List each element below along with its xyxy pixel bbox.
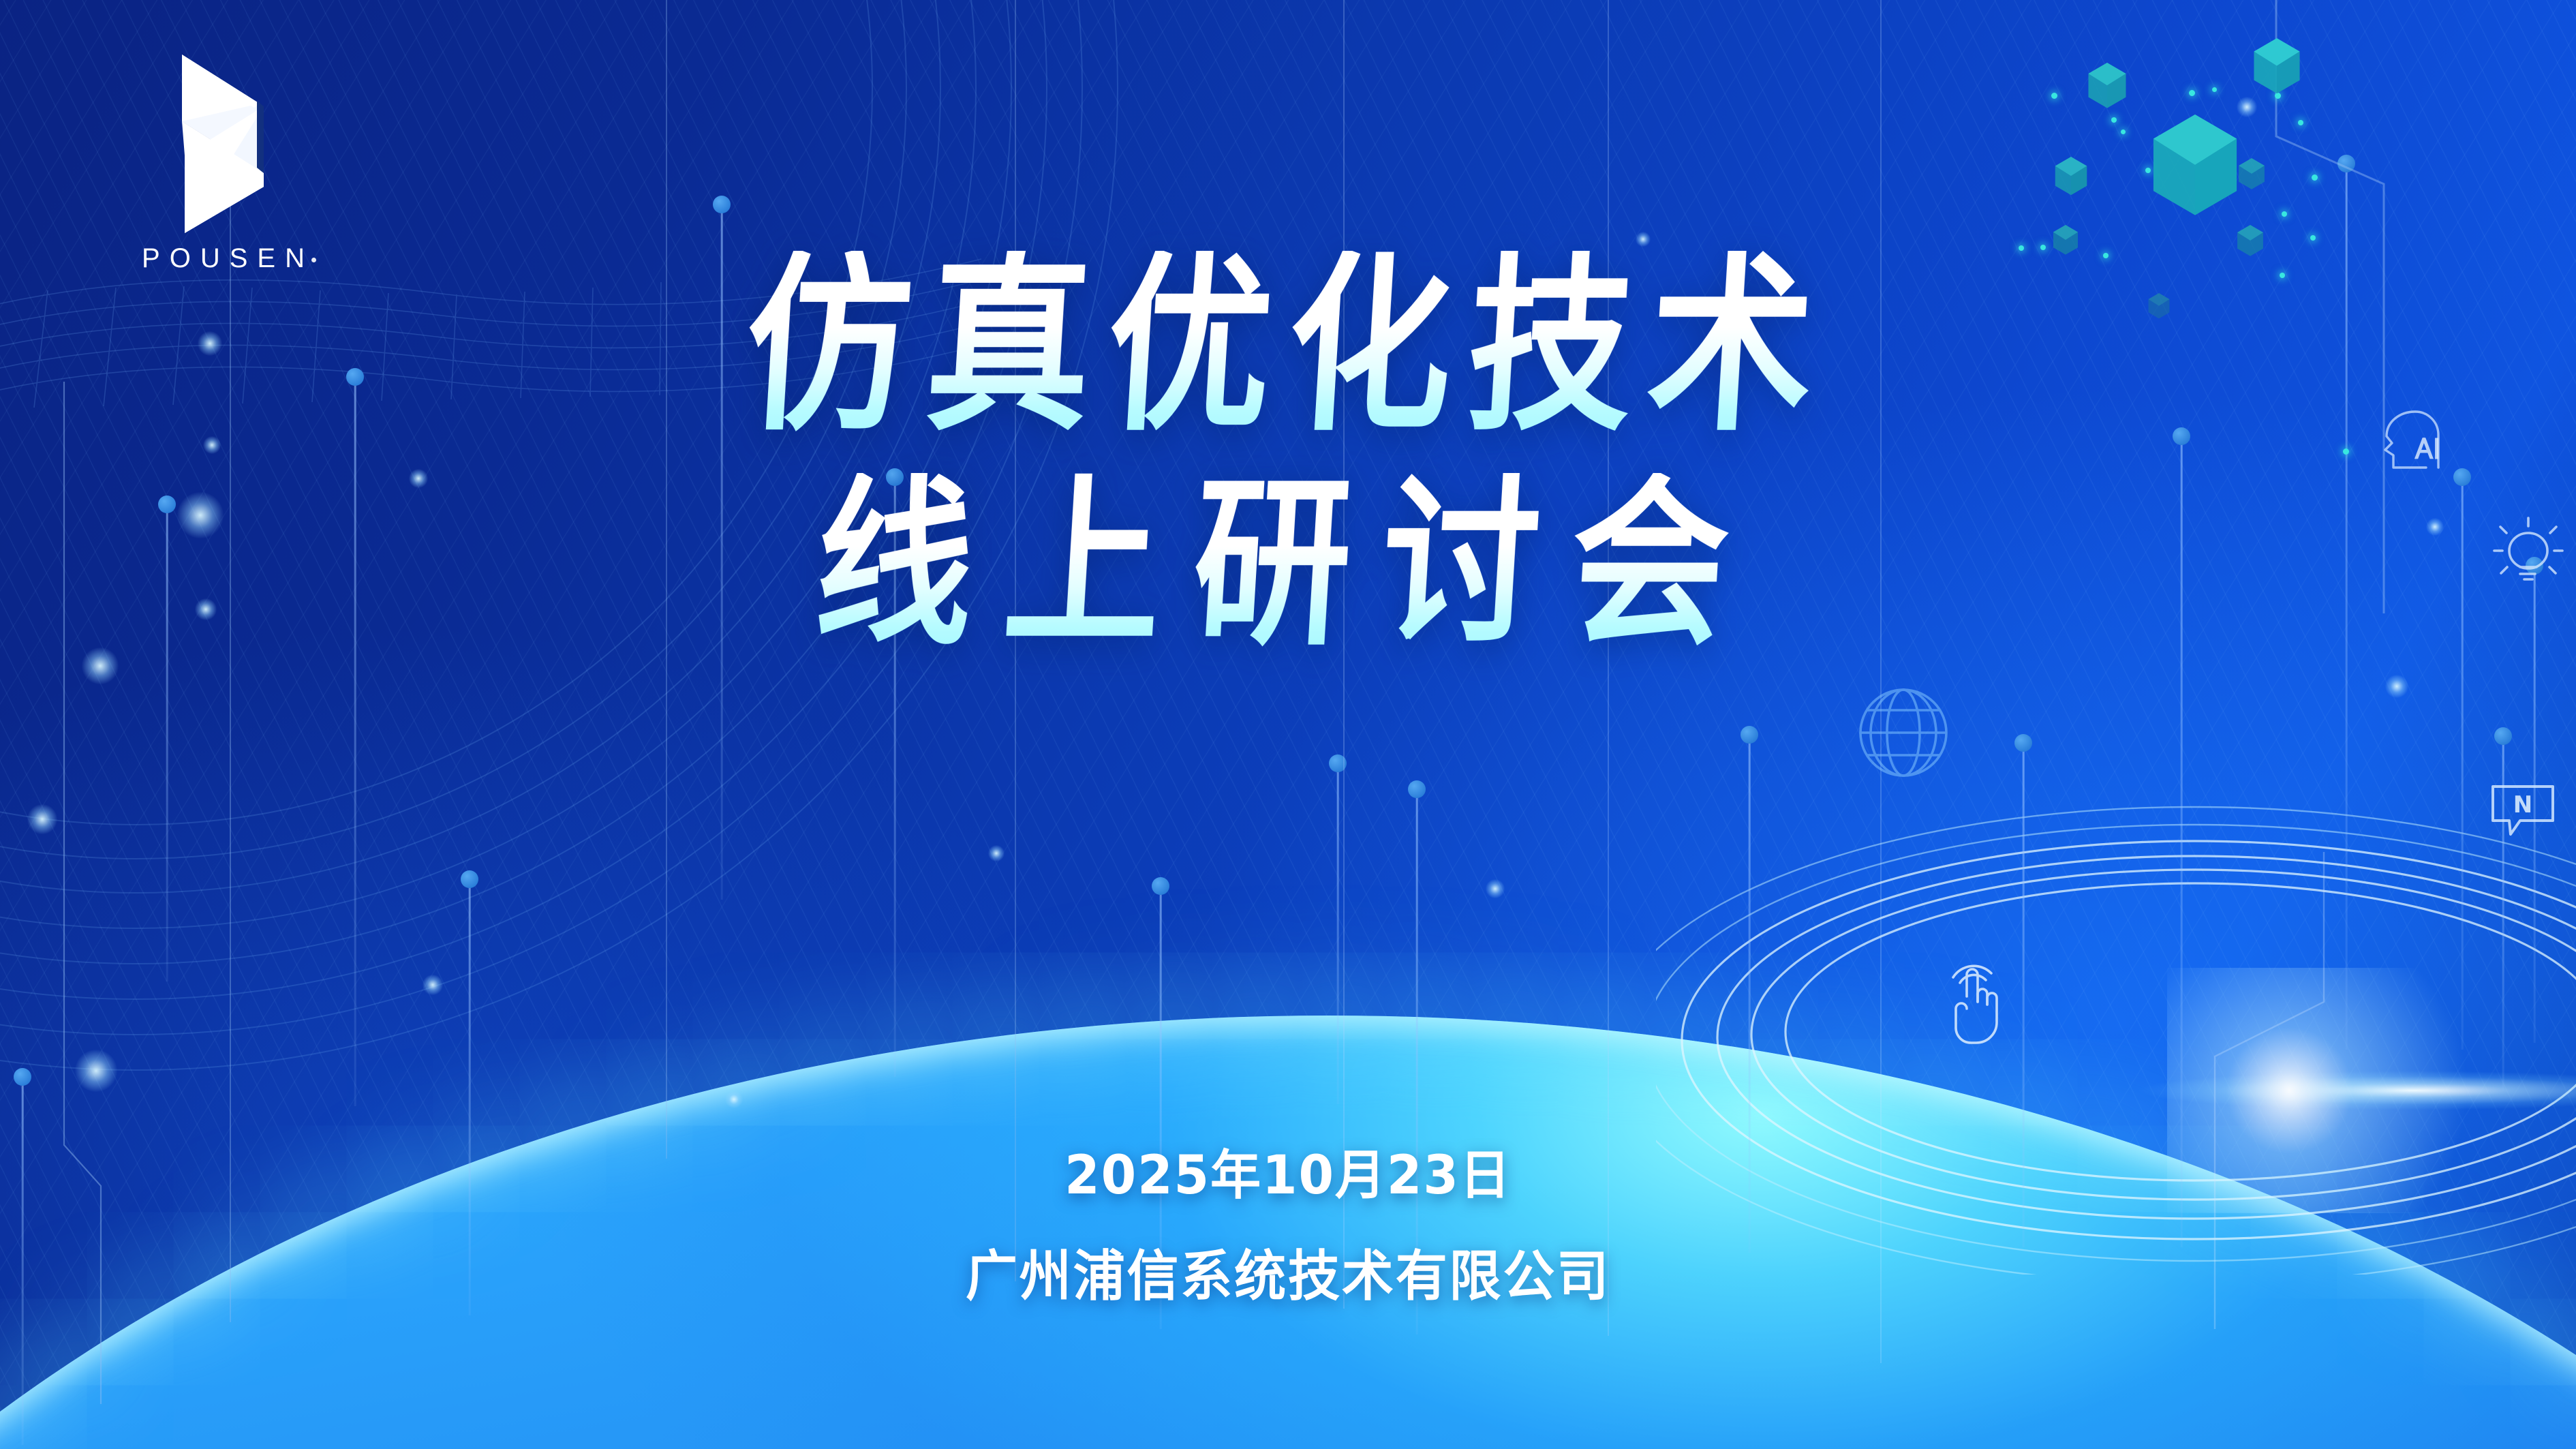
- accent-dot: [2019, 245, 2024, 251]
- pousen-ribbon-logo: [164, 53, 294, 234]
- glow-dot: [988, 845, 1005, 861]
- accent-dot: [2051, 93, 2057, 99]
- accent-dot: [2111, 117, 2117, 123]
- pin-line: [2494, 736, 2512, 1090]
- hexagon-cube-decor: [2250, 38, 2303, 93]
- accent-dot: [2189, 90, 2195, 96]
- webinar-poster: POUSEN 仿真优化技术 线上研讨会 AI: [0, 0, 2576, 1449]
- touch-gesture-icon: [1941, 960, 2012, 1048]
- hexagon-cube-decor: [2053, 157, 2089, 195]
- glow-dot: [27, 804, 57, 834]
- hexagon-cube-decor: [2237, 158, 2267, 189]
- glow-dot: [2237, 97, 2257, 117]
- svg-text:N: N: [2513, 791, 2532, 819]
- headline-block: 仿真优化技术 线上研讨会: [0, 251, 2576, 656]
- accent-dot: [2298, 120, 2303, 125]
- headline-line-1: 仿真优化技术: [174, 251, 2402, 442]
- wireframe-globe-icon: [1852, 682, 1954, 784]
- glow-dot: [423, 975, 443, 995]
- accent-dot: [2282, 211, 2287, 217]
- event-date: 2025年10月23日: [65, 1133, 2512, 1209]
- accent-dot: [2145, 168, 2151, 173]
- accent-dot: [2121, 129, 2126, 134]
- headline-line-2: 线上研讨会: [175, 473, 2402, 656]
- hexagon-cube-decor: [2147, 115, 2243, 215]
- chat-bubble-n-icon: N: [2485, 778, 2561, 848]
- accent-dot: [2275, 93, 2281, 99]
- glow-dot: [1486, 879, 1505, 898]
- hexagon-cube-decor: [2085, 63, 2129, 108]
- accent-dot: [2040, 245, 2046, 250]
- organizer-name: 广州浦信系统技术有限公司: [65, 1232, 2512, 1311]
- accent-dot: [2310, 235, 2316, 241]
- footer-block: 2025年10月23日 广州浦信系统技术有限公司: [0, 1133, 2576, 1311]
- accent-dot: [2312, 174, 2318, 181]
- glow-dot: [2385, 675, 2408, 698]
- glow-dot: [75, 1050, 117, 1092]
- accent-dot: [2212, 87, 2217, 92]
